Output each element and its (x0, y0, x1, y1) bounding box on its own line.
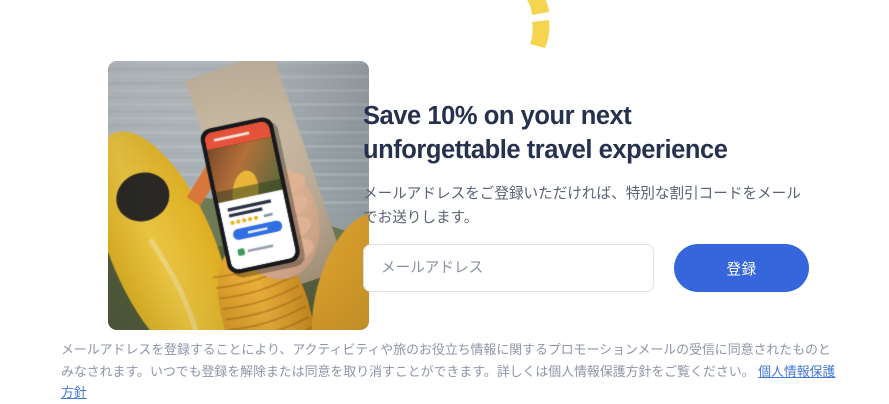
yellow-arc-icon (512, 0, 564, 50)
subscribe-button[interactable]: 登録 (674, 244, 809, 292)
promo-photo (108, 61, 369, 330)
newsletter-signup-form: 登録 (363, 243, 833, 293)
promo-text-block: Save 10% on your next unforgettable trav… (363, 100, 841, 231)
email-input[interactable] (363, 244, 654, 292)
newsletter-promo-section: Save 10% on your next unforgettable trav… (0, 0, 889, 403)
promo-heading: Save 10% on your next unforgettable trav… (363, 100, 767, 167)
legal-disclaimer: メールアドレスを登録することにより、アクティビティや旅のお役立ち情報に関するプロ… (61, 339, 842, 404)
promo-subtext: メールアドレスをご登録いただければ、特別な割引コードをメールでお送りします。 (363, 183, 815, 230)
promo-photo-canvas (108, 61, 369, 330)
legal-disclaimer-text: メールアドレスを登録することにより、アクティビティや旅のお役立ち情報に関するプロ… (61, 342, 831, 379)
